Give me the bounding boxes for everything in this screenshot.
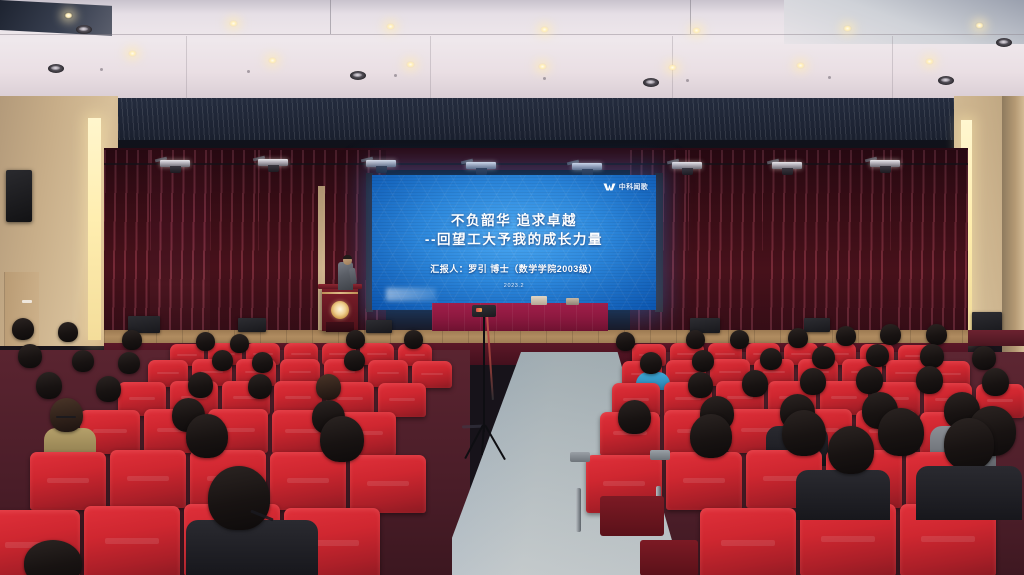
stage-light [466, 160, 500, 170]
right-wall-column [1002, 96, 1024, 356]
ceiling-dark-corner-left [0, 0, 112, 36]
seat[interactable] [84, 506, 180, 575]
seat[interactable] [666, 452, 742, 510]
audience-head [58, 322, 78, 342]
audience-head [690, 414, 732, 458]
audience-head [688, 372, 713, 398]
table-item [531, 296, 547, 305]
audience-head [344, 350, 365, 371]
ceiling-downlight [64, 12, 73, 19]
seat-underside [640, 540, 698, 575]
audience-head [248, 374, 272, 399]
seat-leg [576, 488, 581, 532]
university-emblem-icon [331, 301, 349, 319]
ceiling-seam [186, 36, 187, 98]
ceiling-vent-dot [686, 79, 689, 82]
seat[interactable] [30, 452, 106, 510]
audience-head [828, 426, 874, 474]
audience-head [760, 348, 782, 370]
audience-head [866, 344, 889, 367]
ceiling-downlight [128, 50, 137, 57]
audience-head [212, 350, 233, 371]
audience-head [122, 330, 142, 350]
maroon-curtain [890, 150, 968, 346]
left-wall-light-strip [88, 118, 101, 340]
floor-monitor [804, 318, 830, 332]
seat[interactable] [350, 455, 426, 513]
ceiling-downlight [925, 58, 934, 65]
ceiling-seam [0, 34, 1024, 35]
audience-head [856, 366, 883, 394]
audience-head [72, 350, 94, 372]
led-presentation-screen: 中科闻歌 不负韶华 追求卓越 --回望工大予我的成长力量 汇报人：罗引 博士（数… [372, 175, 656, 310]
audience-head [800, 368, 826, 395]
audience-head [12, 318, 34, 340]
audience-head [188, 372, 213, 398]
audience-head [618, 400, 651, 434]
audience-head [692, 350, 714, 372]
ceiling-seam [330, 0, 331, 34]
audience-head [926, 324, 947, 345]
stage-light [772, 160, 806, 170]
stage-light [160, 158, 194, 168]
recessed-light-fixture [643, 78, 659, 87]
audience-head [230, 334, 249, 353]
ceiling-downlight [796, 62, 805, 69]
slide-title-line-1: 不负韶华 追求卓越 [372, 211, 656, 230]
audience-head [782, 410, 826, 456]
slide-presenter-line: 汇报人：罗引 博士（数学学院2003级） [372, 262, 656, 275]
audience-head [730, 330, 749, 349]
brand-logo: 中科闻歌 [603, 182, 648, 192]
audience-head [346, 330, 365, 349]
audience-head [196, 332, 215, 351]
seat[interactable] [700, 508, 796, 575]
recessed-light-fixture [996, 38, 1012, 47]
audience-head [982, 368, 1009, 396]
audience-head [96, 376, 121, 402]
ceiling-downlight [386, 23, 395, 30]
recessed-light-fixture [76, 25, 92, 34]
audience-head [812, 346, 835, 369]
wall-speaker [6, 170, 32, 222]
audience-head [640, 352, 662, 374]
audience-head [742, 370, 768, 397]
ceiling-downlight [843, 25, 852, 32]
audience-head [316, 374, 341, 400]
audience-head [686, 330, 705, 349]
stage-light [258, 157, 292, 167]
seat-armrest [650, 450, 670, 460]
seat-armrest [570, 452, 590, 462]
table-item [566, 298, 579, 305]
ceiling-downlight [538, 63, 547, 70]
ceiling-seam [892, 36, 893, 98]
floor-monitor [366, 320, 392, 333]
audience-head [788, 328, 808, 348]
ceiling-downlight [268, 57, 277, 64]
door-handle[interactable] [22, 300, 32, 303]
floor-monitor [238, 318, 266, 332]
audience-head [186, 414, 228, 458]
stage-light [366, 158, 400, 168]
ceiling-vent-dot [828, 76, 831, 79]
ceiling-downlight [668, 64, 677, 71]
audience-head [878, 408, 924, 456]
audience-head [404, 330, 423, 349]
ceiling-seam [690, 0, 691, 34]
ceiling-vent-dot [100, 68, 103, 71]
stage-light [572, 161, 606, 171]
seat-underside [600, 496, 664, 536]
recessed-light-fixture [48, 64, 64, 73]
recessed-light-fixture [350, 71, 366, 80]
audience-head [836, 326, 856, 346]
recessed-light-fixture [938, 76, 954, 85]
audience-head [880, 324, 901, 345]
slide-content: 不负韶华 追求卓越 --回望工大予我的成长力量 汇报人：罗引 博士（数学学院20… [372, 211, 656, 289]
ceiling-vent-dot [543, 77, 546, 80]
auditorium-photo: 中科闻歌 不负韶华 追求卓越 --回望工大予我的成长力量 汇报人：罗引 博士（数… [0, 0, 1024, 575]
ceiling-downlight [975, 22, 984, 29]
tripod-column[interactable] [483, 316, 485, 432]
camera-indicator-icon [476, 308, 482, 312]
screen-frame-right [655, 173, 663, 312]
audience-head [36, 372, 62, 399]
ceiling-dark-corner-right [784, 0, 1024, 44]
audience-head [916, 366, 943, 394]
ceiling-downlight [540, 26, 549, 33]
presenter-hair [343, 255, 352, 259]
seat[interactable] [110, 450, 186, 508]
lighting-truss [104, 163, 968, 165]
audience-head [252, 352, 273, 373]
ceiling-downlight [229, 20, 238, 27]
head-table [432, 303, 608, 331]
audience-head [616, 332, 635, 351]
ceiling-vent-dot [247, 70, 250, 73]
audience-head [208, 466, 270, 530]
podium-trim [322, 292, 358, 294]
eyeglasses [56, 416, 76, 418]
audience-head [50, 398, 83, 432]
screen-glare [386, 288, 436, 301]
ceiling-seam [430, 36, 431, 98]
stage-light [870, 158, 904, 168]
audience-head [972, 346, 996, 370]
slide-title-line-2: --回望工大予我的成长力量 [372, 230, 656, 249]
brand-logo-text: 中科闻歌 [619, 182, 648, 192]
ceiling-downlight [406, 61, 415, 68]
audience-body [796, 470, 890, 520]
side-rail [968, 330, 1024, 346]
stage-light [672, 160, 706, 170]
audience-head [320, 416, 364, 462]
audience-head [118, 352, 140, 374]
wenge-logo-icon [603, 182, 616, 192]
ceiling-vent-dot [394, 74, 397, 77]
audience-head [18, 344, 42, 368]
audience-head [920, 344, 944, 368]
ceiling-downlight [692, 27, 701, 34]
audience-body [916, 466, 1022, 520]
audience-head [944, 418, 994, 470]
